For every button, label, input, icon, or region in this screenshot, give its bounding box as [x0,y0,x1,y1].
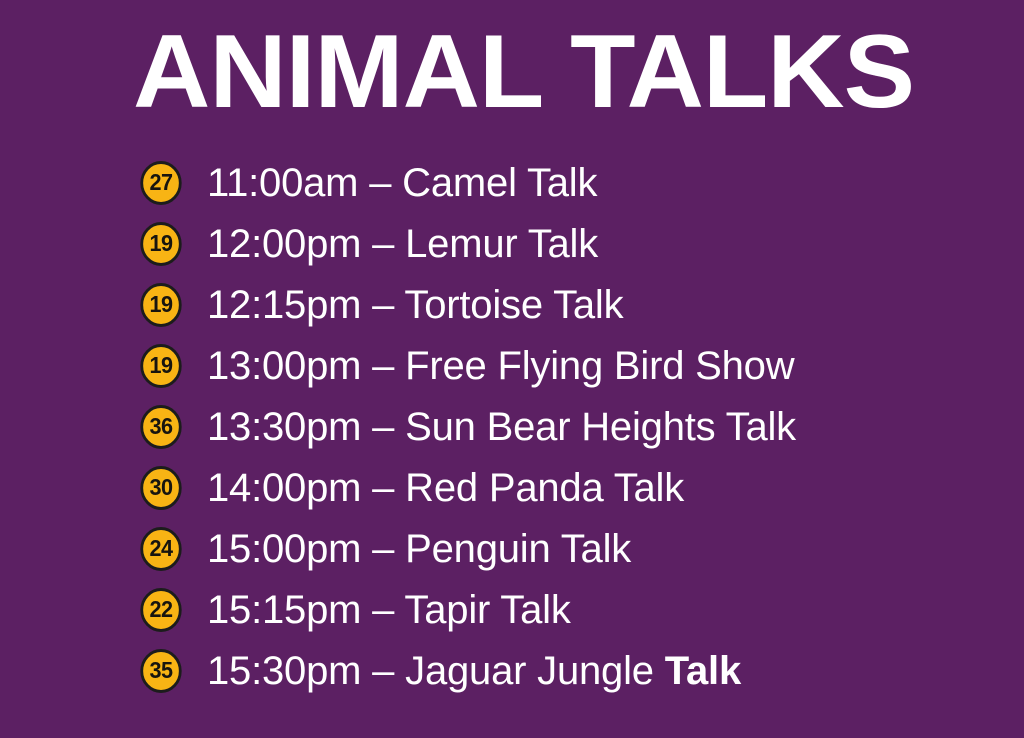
talk-time: 12:15pm [207,283,361,327]
talk-name: Camel Talk [402,161,597,205]
talk-name: Sun Bear Heights Talk [405,405,796,449]
talk-separator-dash: – [361,222,405,266]
animal-talks-poster: ANIMAL TALKS 2711:00am – Camel Talk1912:… [0,0,1024,738]
page-title: ANIMAL TALKS [133,16,914,128]
talk-separator-dash: – [361,405,405,449]
talk-row: 1912:15pm – Tortoise Talk [139,274,999,335]
talk-name: Penguin Talk [405,527,631,571]
talk-row: 1913:00pm – Free Flying Bird Show [139,335,999,396]
talk-label: 12:15pm – Tortoise Talk [207,283,623,327]
talk-separator-dash: – [361,344,405,388]
talk-row: 3613:30pm – Sun Bear Heights Talk [139,396,999,457]
talk-location-badge: 30 [140,466,181,510]
talk-name-emphasis: Talk [665,649,741,693]
talk-separator-dash: – [361,588,404,632]
talk-row: 3515:30pm – Jaguar Jungle Talk [139,640,999,701]
talk-name: Lemur Talk [405,222,598,266]
talk-separator-dash: – [361,527,405,571]
talk-row: 2415:00pm – Penguin Talk [139,518,999,579]
talk-time: 15:15pm [207,588,361,632]
talk-label: 15:15pm – Tapir Talk [207,588,571,632]
talk-row: 3014:00pm – Red Panda Talk [139,457,999,518]
talk-time: 12:00pm [207,222,361,266]
talk-location-badge: 35 [140,649,181,693]
talk-separator-dash: – [361,466,405,510]
talks-schedule-list: 2711:00am – Camel Talk1912:00pm – Lemur … [139,152,999,701]
talk-label: 13:30pm – Sun Bear Heights Talk [207,405,796,449]
talk-label: 15:00pm – Penguin Talk [207,527,631,571]
talk-time: 14:00pm [207,466,361,510]
talk-label: 13:00pm – Free Flying Bird Show [207,344,794,388]
talk-time: 13:30pm [207,405,361,449]
talk-name: Tapir Talk [404,588,570,632]
talk-location-badge: 19 [140,344,181,388]
talk-separator-dash: – [361,283,404,327]
talk-location-badge: 19 [140,283,181,327]
talk-time: 15:00pm [207,527,361,571]
talk-row: 2215:15pm – Tapir Talk [139,579,999,640]
talk-location-badge: 27 [140,161,181,205]
talk-name: Red Panda Talk [405,466,684,510]
talk-row: 2711:00am – Camel Talk [139,152,999,213]
talk-label: 15:30pm – Jaguar Jungle Talk [207,649,741,693]
talk-separator-dash: – [361,649,405,693]
talk-label: 11:00am – Camel Talk [207,161,597,205]
talk-name: Jaguar Jungle [405,649,665,693]
talk-label: 14:00pm – Red Panda Talk [207,466,684,510]
talk-time: 15:30pm [207,649,361,693]
talk-time: 11:00am [207,161,358,205]
talk-separator-dash: – [358,161,402,205]
talk-row: 1912:00pm – Lemur Talk [139,213,999,274]
talk-label: 12:00pm – Lemur Talk [207,222,598,266]
talk-location-badge: 19 [140,222,181,266]
talk-name: Tortoise Talk [404,283,623,327]
talk-location-badge: 22 [140,588,181,632]
talk-name: Free Flying Bird Show [405,344,794,388]
talk-location-badge: 24 [140,527,181,571]
talk-location-badge: 36 [140,405,181,449]
talk-time: 13:00pm [207,344,361,388]
